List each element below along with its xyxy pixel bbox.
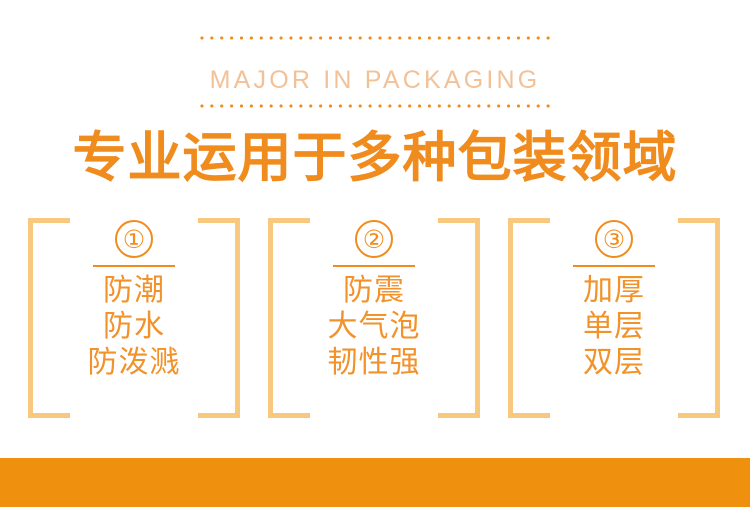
feature-panel-group: ① 防潮 防水 防泼溅 ② 防震 大气泡 韧性强 bbox=[0, 218, 750, 428]
feature-line: 防潮 bbox=[88, 273, 181, 309]
eyebrow-text: MAJOR IN PACKAGING bbox=[0, 64, 750, 96]
feature-panel-2: ② 防震 大气泡 韧性强 bbox=[268, 218, 480, 418]
feature-line: 双层 bbox=[583, 345, 645, 381]
panel-divider bbox=[573, 265, 655, 267]
feature-line: 防水 bbox=[88, 309, 181, 345]
dotted-rule-top bbox=[197, 36, 554, 40]
panel-divider bbox=[93, 265, 175, 267]
feature-line: 防泼溅 bbox=[88, 345, 181, 381]
feature-panel-1-body: ① 防潮 防水 防泼溅 bbox=[28, 218, 240, 418]
feature-panel-3-body: ③ 加厚 单层 双层 bbox=[508, 218, 720, 418]
feature-panel-3: ③ 加厚 单层 双层 bbox=[508, 218, 720, 418]
panel-divider bbox=[333, 265, 415, 267]
page-title: 专业运用于多种包装领域 bbox=[0, 126, 750, 190]
header-block: MAJOR IN PACKAGING 专业运用于多种包装领域 bbox=[0, 0, 750, 200]
dotted-rule-bottom bbox=[197, 104, 554, 108]
feature-line: 单层 bbox=[583, 309, 645, 345]
feature-panel-1-text: 防潮 防水 防泼溅 bbox=[88, 273, 181, 381]
feature-line: 大气泡 bbox=[328, 309, 421, 345]
feature-panel-3-text: 加厚 单层 双层 bbox=[583, 273, 645, 381]
feature-panel-2-text: 防震 大气泡 韧性强 bbox=[328, 273, 421, 381]
feature-panel-2-body: ② 防震 大气泡 韧性强 bbox=[268, 218, 480, 418]
feature-line: 加厚 bbox=[583, 273, 645, 309]
circled-number-1: ① bbox=[115, 220, 153, 258]
feature-line: 韧性强 bbox=[328, 345, 421, 381]
promo-banner: MAJOR IN PACKAGING 专业运用于多种包装领域 ① 防潮 防水 防… bbox=[0, 0, 750, 530]
circled-number-3: ③ bbox=[595, 220, 633, 258]
bottom-accent-bar bbox=[0, 458, 750, 507]
circled-number-2: ② bbox=[355, 220, 393, 258]
feature-panel-1: ① 防潮 防水 防泼溅 bbox=[28, 218, 240, 418]
feature-line: 防震 bbox=[328, 273, 421, 309]
